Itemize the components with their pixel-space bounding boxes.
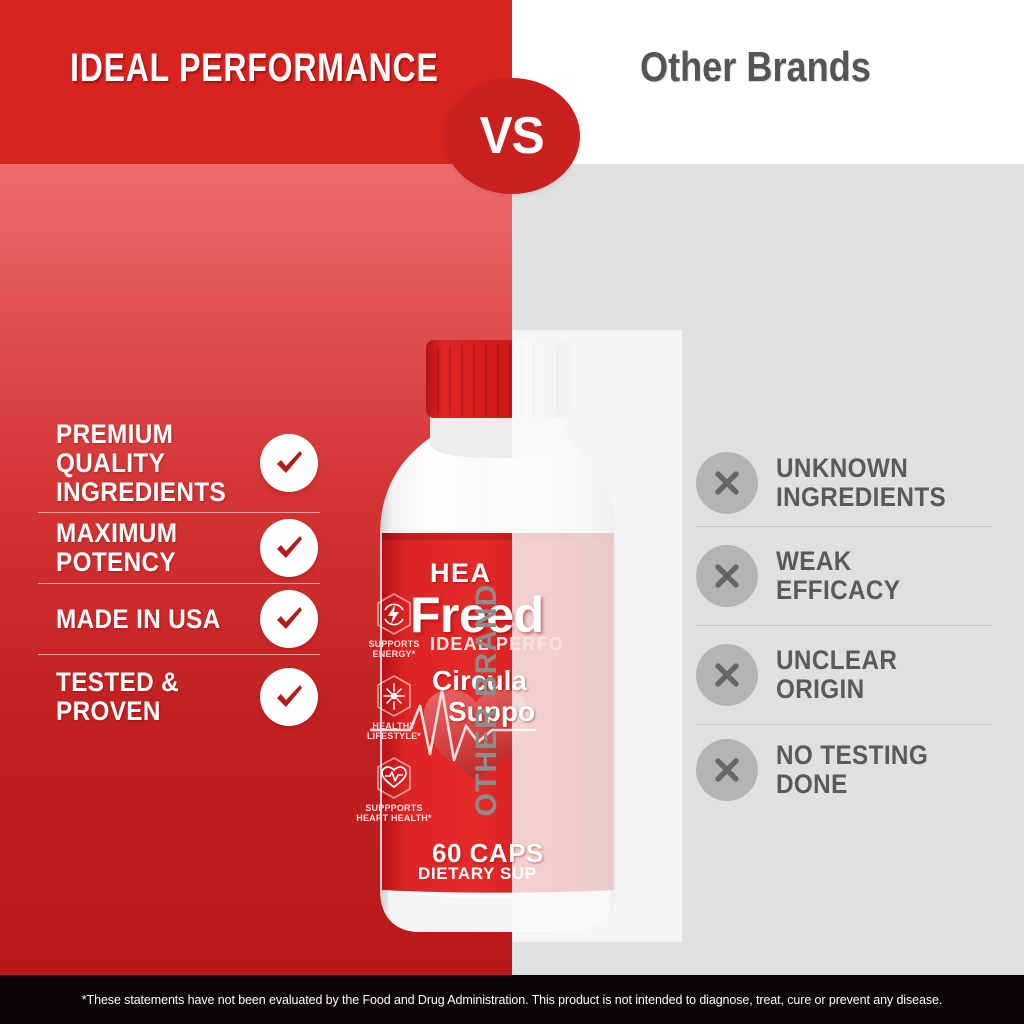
list-item: WEAK EFFICACY: [694, 527, 994, 625]
list-item: NO TESTING DONE: [694, 725, 994, 815]
vs-badge: VS: [444, 78, 580, 194]
feature-label: MADE IN USA: [56, 605, 221, 634]
x-icon: [696, 739, 758, 801]
check-icon: [260, 668, 318, 726]
x-icon: [696, 452, 758, 514]
drawback-label: WEAK EFFICACY: [776, 547, 900, 605]
feature-label: PREMIUM QUALITY INGREDIENTS: [56, 420, 226, 507]
fda-disclaimer: *These statements have not been evaluate…: [0, 975, 1024, 1024]
check-icon: [260, 590, 318, 648]
list-item: MADE IN USA: [34, 584, 324, 654]
list-item: UNCLEAR ORIGIN: [694, 626, 994, 724]
left-column-title: IDEAL PERFORMANCE: [70, 44, 439, 92]
right-column-title: Other Brands: [640, 42, 871, 92]
vs-badge-label: VS: [480, 106, 544, 166]
list-item: MAXIMUM POTENCY: [34, 513, 324, 583]
drawback-label: UNKNOWN INGREDIENTS: [776, 454, 946, 512]
list-item: PREMIUM QUALITY INGREDIENTS: [34, 414, 324, 512]
x-icon: [696, 545, 758, 607]
drawback-label: NO TESTING DONE: [776, 741, 928, 799]
list-item: TESTED & PROVEN: [34, 655, 324, 739]
list-item: UNKNOWN INGREDIENTS: [694, 440, 994, 526]
check-icon: [260, 434, 318, 492]
other-brands-drawback-list: UNKNOWN INGREDIENTS WEAK EFFICACY: [694, 440, 994, 815]
product-bottle-image: [326, 330, 670, 940]
feature-label: TESTED & PROVEN: [56, 668, 179, 726]
comparison-infographic: IDEAL PERFORMANCE Other Brands VS: [0, 0, 1024, 1024]
check-icon: [260, 519, 318, 577]
x-icon: [696, 644, 758, 706]
drawback-label: UNCLEAR ORIGIN: [776, 646, 897, 704]
ideal-performance-feature-list: PREMIUM QUALITY INGREDIENTS MAXIMUM POTE…: [34, 414, 324, 739]
feature-label: MAXIMUM POTENCY: [56, 519, 177, 577]
